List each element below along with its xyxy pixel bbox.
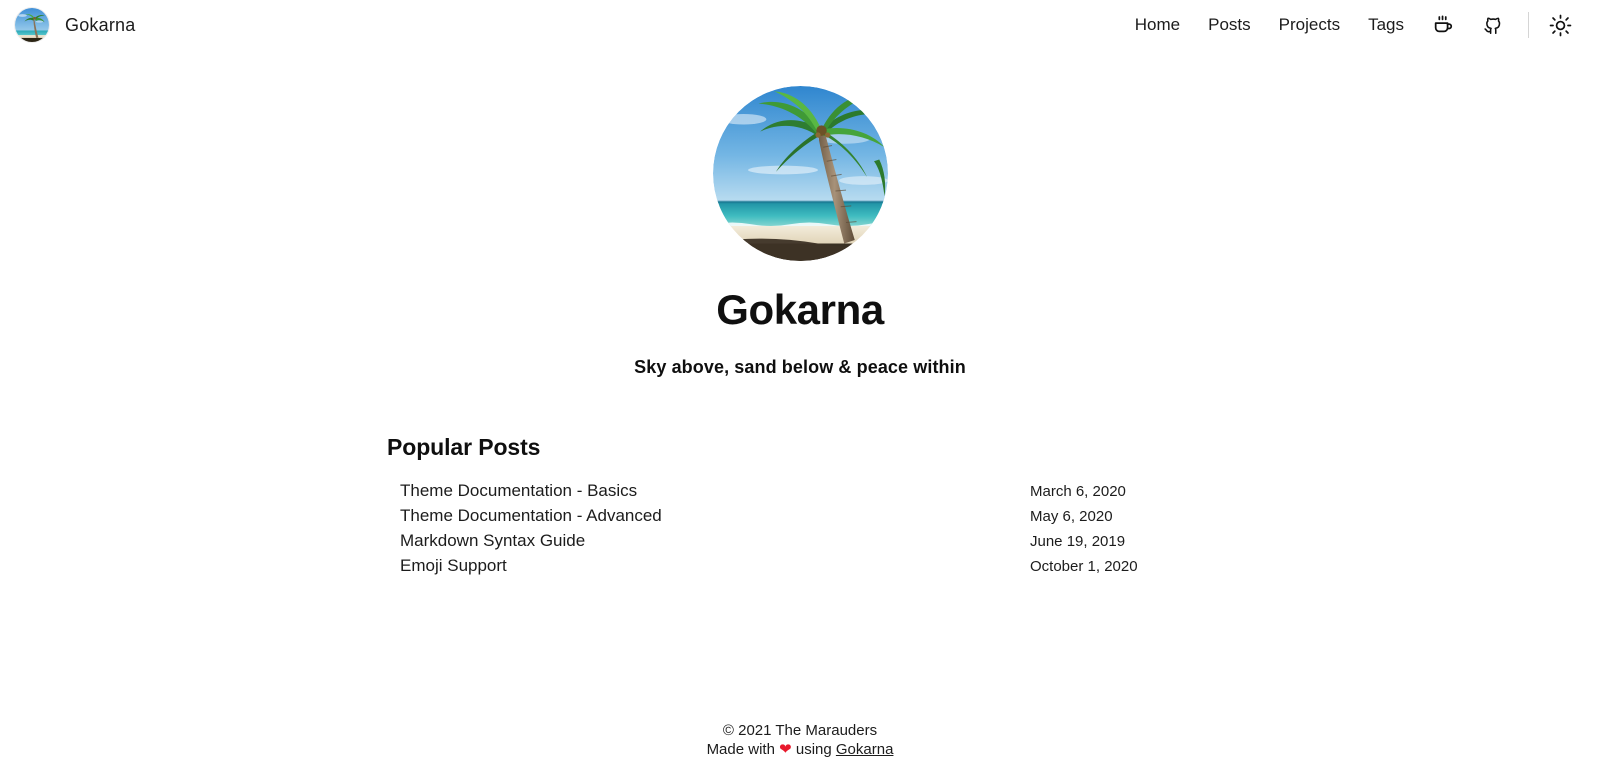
main-navigation: Home Posts Projects Tags <box>1121 0 1584 50</box>
brand-home-link[interactable]: Gokarna <box>14 7 135 43</box>
post-date: October 1, 2020 <box>1030 558 1138 575</box>
github-icon[interactable] <box>1468 14 1518 36</box>
page-title: Gokarna <box>0 287 1600 333</box>
nav-divider <box>1528 12 1529 38</box>
list-item: Theme Documentation - Advanced May 6, 20… <box>380 504 1180 529</box>
post-title-link[interactable]: Markdown Syntax Guide <box>400 531 1030 551</box>
popular-posts-section: Popular Posts Theme Documentation - Basi… <box>380 434 1180 579</box>
coffee-cup-icon[interactable] <box>1418 14 1468 36</box>
nav-link-posts[interactable]: Posts <box>1194 0 1265 50</box>
theme-toggle-sun-icon[interactable] <box>1539 14 1584 37</box>
footer-credit-prefix: Made with <box>707 741 780 758</box>
beach-palm-photo-avatar <box>713 86 888 261</box>
post-title-link[interactable]: Theme Documentation - Basics <box>400 481 1030 501</box>
brand-name: Gokarna <box>65 15 135 36</box>
footer-credit: Made with ❤ using Gokarna <box>0 740 1600 759</box>
section-title-popular-posts: Popular Posts <box>387 434 1180 461</box>
footer-theme-link[interactable]: Gokarna <box>836 741 894 758</box>
site-header: Gokarna Home Posts Projects Tags <box>0 0 1600 50</box>
footer-credit-middle: using <box>792 741 836 758</box>
nav-link-tags[interactable]: Tags <box>1354 0 1418 50</box>
hero-section: Gokarna Sky above, sand below & peace wi… <box>0 86 1600 378</box>
heart-icon: ❤ <box>779 741 792 758</box>
footer-copyright: © 2021 The Marauders <box>0 721 1600 740</box>
post-title-link[interactable]: Emoji Support <box>400 556 1030 576</box>
post-date: May 6, 2020 <box>1030 508 1113 525</box>
list-item: Emoji Support October 1, 2020 <box>380 554 1180 579</box>
list-item: Markdown Syntax Guide June 19, 2019 <box>380 529 1180 554</box>
post-title-link[interactable]: Theme Documentation - Advanced <box>400 506 1030 526</box>
list-item: Theme Documentation - Basics March 6, 20… <box>380 479 1180 504</box>
post-date: June 19, 2019 <box>1030 533 1125 550</box>
hero-tagline: Sky above, sand below & peace within <box>0 357 1600 378</box>
beach-palm-avatar-icon <box>14 7 50 43</box>
nav-link-home[interactable]: Home <box>1121 0 1194 50</box>
popular-posts-list: Theme Documentation - Basics March 6, 20… <box>380 479 1180 579</box>
post-date: March 6, 2020 <box>1030 483 1126 500</box>
nav-link-projects[interactable]: Projects <box>1265 0 1354 50</box>
site-footer: © 2021 The Marauders Made with ❤ using G… <box>0 721 1600 759</box>
